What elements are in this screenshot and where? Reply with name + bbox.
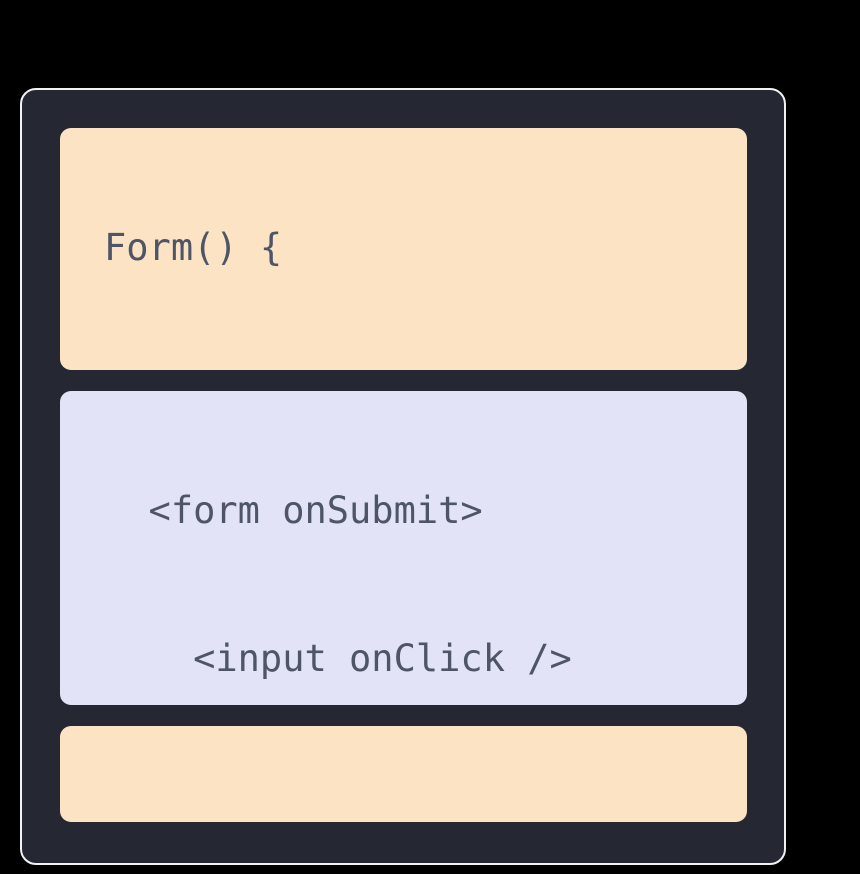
code-line: Form() { — [104, 211, 747, 285]
code-line: onClick() {...} — [104, 359, 747, 370]
code-panel-declaration: Form() { onClick() {...} onSubmit() {...… — [60, 128, 747, 370]
component-container: Form() { onClick() {...} onSubmit() {...… — [20, 88, 786, 865]
code-line: <input onClick /> — [104, 622, 747, 696]
code-block-markup: <form onSubmit> <input onClick /> <input… — [60, 391, 747, 705]
code-block-closing: } — [60, 726, 747, 822]
code-panel-markup: <form onSubmit> <input onClick /> <input… — [60, 391, 747, 705]
diagram-canvas: Form() { onClick() {...} onSubmit() {...… — [0, 0, 860, 874]
code-line: } — [104, 811, 747, 822]
code-line: <form onSubmit> — [104, 474, 747, 548]
code-block-declaration: Form() { onClick() {...} onSubmit() {...… — [60, 128, 747, 370]
code-panel-closing: } — [60, 726, 747, 822]
